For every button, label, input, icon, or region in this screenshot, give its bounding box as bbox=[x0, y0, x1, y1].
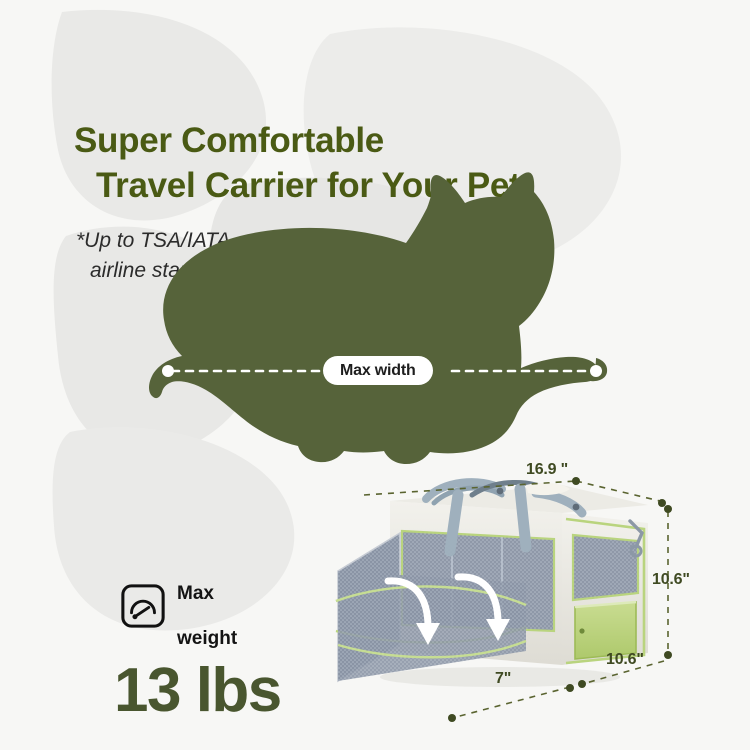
max-weight-label-line-2: weight bbox=[177, 628, 237, 649]
gauge-icon bbox=[120, 583, 166, 629]
max-width-badge-label: Max width bbox=[340, 362, 416, 380]
max-weight-label: Max weight bbox=[177, 561, 237, 651]
dimension-bottom-label: 7" bbox=[495, 670, 511, 688]
product-figure: 16.9 " 10.6" 10.6" 7" bbox=[330, 455, 750, 735]
max-weight-block: Max weight 13 lbs bbox=[120, 561, 281, 722]
max-weight-label-line-1: Max bbox=[177, 583, 214, 604]
dimension-height-label: 10.6" bbox=[652, 571, 690, 589]
max-width-badge: Max width bbox=[323, 356, 433, 385]
dimension-width-label: 16.9 " bbox=[526, 461, 568, 479]
max-weight-value: 13 lbs bbox=[114, 660, 281, 722]
carrier-illustration bbox=[330, 455, 750, 735]
dimension-depth-label: 10.6" bbox=[606, 651, 644, 669]
infographic-canvas: Super Comfortable Travel Carrier for You… bbox=[0, 0, 750, 750]
